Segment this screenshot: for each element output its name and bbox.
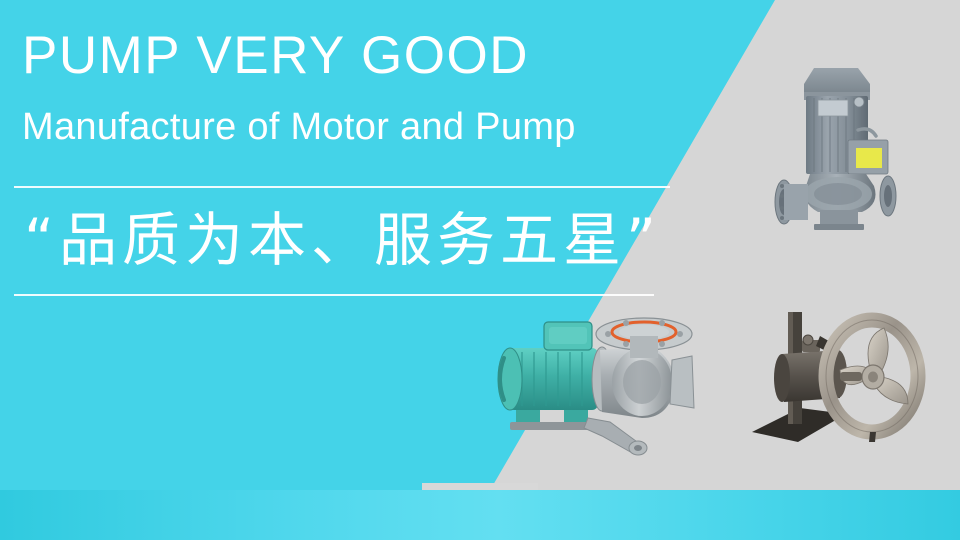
page-subtitle: Manufacture of Motor and Pump	[22, 104, 576, 150]
divider-bottom	[14, 294, 654, 296]
motor-foot-left	[516, 410, 540, 424]
side-flange	[670, 356, 694, 408]
grey-accent-strip	[422, 483, 538, 490]
page-title: PUMP VERY GOOD	[22, 26, 529, 86]
divider-top	[14, 186, 670, 188]
motor-fan-cover	[804, 68, 870, 96]
slogan-text: “品质为本、服务五星”	[24, 200, 661, 280]
motor-foot-right	[564, 410, 588, 424]
product-image-horizontal-centrifugal-pump	[492, 302, 728, 468]
terminal-box-yellow-label	[856, 148, 882, 168]
headline-block: PUMP VERY GOOD Manufacture of Motor and …	[0, 0, 700, 330]
product-image-vertical-inline-pump	[762, 44, 942, 254]
product-image-submersible-propeller-mixer	[742, 292, 938, 458]
bottom-gradient-bar	[0, 490, 960, 540]
promo-banner: PUMP VERY GOOD Manufacture of Motor and …	[0, 0, 960, 540]
motor-nameplate	[818, 100, 848, 116]
pump-base	[820, 210, 858, 226]
